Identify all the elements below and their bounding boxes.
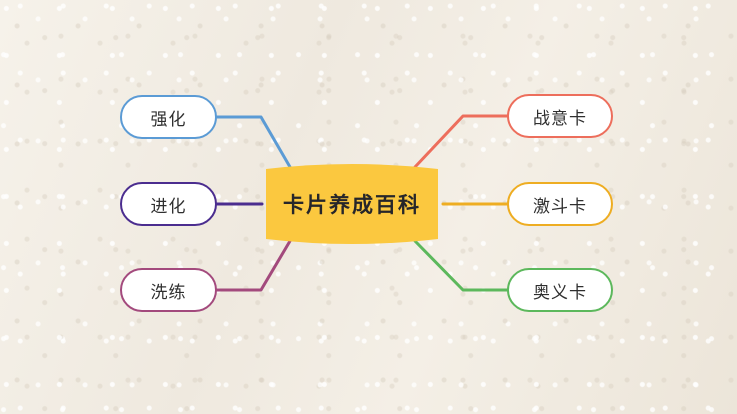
branch-node-zhanyika[interactable]: 战意卡 (507, 94, 613, 138)
branch-node-xilian[interactable]: 洗练 (120, 268, 217, 312)
branch-node-label: 战意卡 (533, 104, 587, 129)
branch-node-label: 激斗卡 (533, 192, 587, 217)
branch-node-jidouka[interactable]: 激斗卡 (507, 182, 613, 226)
root-node-label: 卡片养成百科 (283, 189, 421, 219)
branch-node-jinhua[interactable]: 进化 (120, 182, 217, 226)
mindmap-canvas: 卡片养成百科 强化 进化 洗练 战意卡 激斗卡 奥义卡 (0, 0, 737, 414)
branch-node-label: 强化 (151, 105, 187, 130)
branch-node-label: 进化 (151, 192, 187, 217)
branch-node-qianghua[interactable]: 强化 (120, 95, 217, 139)
branch-node-label: 奥义卡 (533, 278, 587, 303)
branch-node-label: 洗练 (151, 278, 187, 303)
branch-node-aoyika[interactable]: 奥义卡 (507, 268, 613, 312)
root-node[interactable]: 卡片养成百科 (256, 159, 448, 249)
